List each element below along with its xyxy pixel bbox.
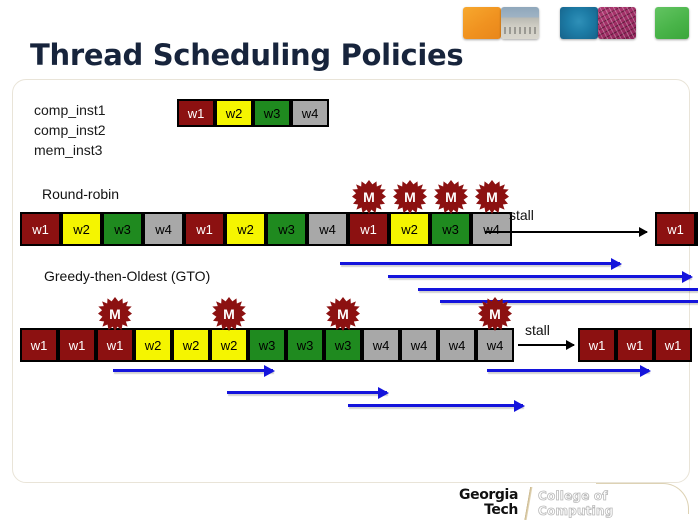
memory-latency-arrow <box>113 369 273 372</box>
legend-line-2: comp_inst2 <box>34 120 106 140</box>
memory-miss-star-icon: M <box>475 180 509 214</box>
warp-block-w2: w2 <box>389 212 430 246</box>
legend-line-1: comp_inst1 <box>34 100 106 120</box>
warp-block-w1: w1 <box>578 328 616 362</box>
gto-stall-arrow <box>518 344 574 346</box>
warp-block-w2: w2 <box>210 328 248 362</box>
georgia-tech-wordmark: Georgia Tech <box>446 488 518 518</box>
memory-miss-star-icon: M <box>478 297 512 331</box>
memory-miss-star-icon: M <box>352 180 386 214</box>
legend-line-3: mem_inst3 <box>34 140 106 160</box>
warp-block-w3: w3 <box>286 328 324 362</box>
warp-block-w1: w1 <box>616 328 654 362</box>
thumb-green-icon <box>655 7 689 39</box>
warp-block-w1: w1 <box>177 99 215 127</box>
warp-block-w1: w1 <box>96 328 134 362</box>
warp-block-w2: w2 <box>61 212 102 246</box>
warp-block-w1: w1 <box>184 212 225 246</box>
memory-miss-star-icon: M <box>326 297 360 331</box>
header-decoration-strip <box>0 7 698 40</box>
thumb-magenta-icon <box>598 7 636 39</box>
warp-block-w1: w1 <box>58 328 96 362</box>
warp-block-w3: w3 <box>430 212 471 246</box>
warp-block-w3: w3 <box>248 328 286 362</box>
gt-line-2: Tech <box>446 503 518 518</box>
warp-block-w1: w1 <box>348 212 389 246</box>
warp-block-w2: w2 <box>172 328 210 362</box>
warp-block-w3: w3 <box>266 212 307 246</box>
warp-block-w1: w1 <box>654 328 692 362</box>
section-caption-round-robin: Round-robin <box>42 186 119 202</box>
warp-block-w3: w3 <box>324 328 362 362</box>
memory-miss-star-icon: M <box>434 180 468 214</box>
warp-block-w4: w4 <box>307 212 348 246</box>
logo-swoosh <box>596 483 689 514</box>
round-robin-stall-arrow <box>485 231 647 233</box>
warp-block-w3: w3 <box>102 212 143 246</box>
memory-latency-arrow <box>348 404 523 407</box>
thumb-blue-icon <box>560 7 598 39</box>
warp-block-w4: w4 <box>471 212 512 246</box>
instruction-legend: comp_inst1 comp_inst2 mem_inst3 <box>34 100 106 160</box>
page-title: Thread Scheduling Policies <box>30 38 463 72</box>
warp-block-w4: w4 <box>362 328 400 362</box>
memory-latency-arrow <box>388 275 691 278</box>
memory-latency-arrow <box>227 391 387 394</box>
thumb-photo-icon <box>501 7 539 39</box>
footer-logo: Georgia Tech College of Computing <box>446 487 686 521</box>
memory-latency-arrow <box>440 300 698 303</box>
warp-block-w1: w1 <box>20 328 58 362</box>
warp-block-w1: w1 <box>655 212 696 246</box>
warp-block-w4: w4 <box>291 99 329 127</box>
warp-block-w4: w4 <box>400 328 438 362</box>
warp-block-w2: w2 <box>134 328 172 362</box>
gto-stall-label: stall <box>525 322 550 338</box>
logo-divider <box>524 487 534 520</box>
memory-miss-star-icon: M <box>393 180 427 214</box>
warp-block-w1: w1 <box>20 212 61 246</box>
memory-latency-arrow <box>418 288 698 291</box>
memory-miss-star-icon: M <box>212 297 246 331</box>
warp-block-w4: w4 <box>143 212 184 246</box>
warp-block-w4: w4 <box>476 328 514 362</box>
memory-latency-arrow <box>340 262 620 265</box>
memory-miss-star-icon: M <box>98 297 132 331</box>
thumb-orange-icon <box>463 7 501 39</box>
memory-latency-arrow <box>487 369 649 372</box>
warp-block-w3: w3 <box>253 99 291 127</box>
section-caption-gto: Greedy-then-Oldest (GTO) <box>44 268 210 284</box>
round-robin-stall-label: stall <box>509 207 534 223</box>
gt-line-1: Georgia <box>446 488 518 503</box>
warp-block-w2: w2 <box>225 212 266 246</box>
warp-block-w4: w4 <box>438 328 476 362</box>
warp-block-w2: w2 <box>215 99 253 127</box>
